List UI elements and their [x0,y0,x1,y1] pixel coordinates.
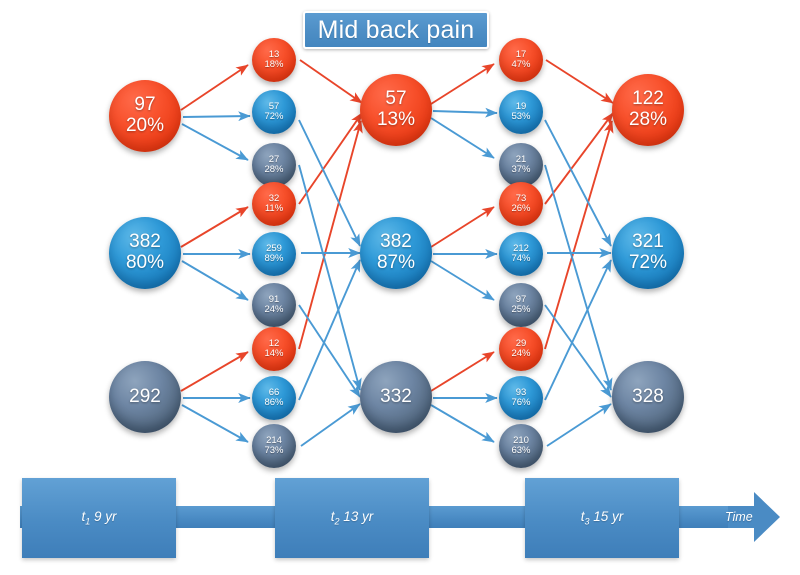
node-c4-b-blue[interactable]: 212 74% [499,232,543,276]
timeline-axis-label: Time [725,510,753,524]
diagram-canvas: Mid back pain 97 20% 382 80% 292 13 18% … [0,0,800,575]
node-c3-blue[interactable]: 382 87% [360,217,432,289]
node-pct: 14% [264,349,283,359]
node-c4-s-red[interactable]: 29 24% [499,327,543,371]
node-c5-red[interactable]: 122 28% [612,74,684,146]
node-c4-s-slate[interactable]: 210 63% [499,424,543,468]
node-c1-blue[interactable]: 382 80% [109,217,181,289]
node-c4-s-blue[interactable]: 93 76% [499,376,543,420]
node-count: 328 [632,387,664,408]
node-pct: 80% [126,253,164,274]
node-pct: 37% [511,165,530,175]
node-c2-r-blue[interactable]: 57 72% [252,90,296,134]
node-pct: 47% [511,60,530,70]
node-pct: 76% [511,398,530,408]
node-count: 122 [632,89,664,110]
node-c5-slate[interactable]: 328 [612,361,684,433]
node-c1-slate[interactable]: 292 [109,361,181,433]
node-count: 97 [134,95,155,116]
node-count: 382 [380,232,412,253]
node-pct: 20% [126,116,164,137]
node-pct: 72% [629,253,667,274]
timeline-step-3[interactable]: t3 15 yr [525,478,679,558]
diagram-title-text: Mid back pain [318,18,475,43]
node-count: 292 [129,387,161,408]
node-pct: 53% [511,112,530,122]
node-pct: 25% [511,305,530,315]
node-pct: 24% [264,305,283,315]
node-c2-r-slate[interactable]: 27 28% [252,143,296,187]
node-c2-b-blue[interactable]: 259 89% [252,232,296,276]
node-c4-b-red[interactable]: 73 26% [499,182,543,226]
node-pct: 28% [629,110,667,131]
node-c4-r-red[interactable]: 17 47% [499,38,543,82]
node-c3-red[interactable]: 57 13% [360,74,432,146]
node-pct: 89% [264,254,283,264]
node-c4-r-slate[interactable]: 21 37% [499,143,543,187]
node-pct: 28% [264,165,283,175]
node-pct: 13% [377,110,415,131]
node-count: 57 [385,89,406,110]
node-c4-r-blue[interactable]: 19 53% [499,90,543,134]
node-c2-s-blue[interactable]: 66 86% [252,376,296,420]
node-count: 382 [129,232,161,253]
node-pct: 87% [377,253,415,274]
node-pct: 11% [265,204,283,214]
timeline-step-1[interactable]: t1 9 yr [22,478,176,558]
timeline-step-1-label: t1 9 yr [81,509,116,527]
node-c3-slate[interactable]: 332 [360,361,432,433]
node-count: 332 [380,387,412,408]
node-pct: 26% [511,204,530,214]
node-c2-s-red[interactable]: 12 14% [252,327,296,371]
diagram-title: Mid back pain [303,11,489,49]
node-pct: 18% [264,60,283,70]
timeline-step-3-label: t3 15 yr [581,509,624,527]
node-pct: 74% [511,254,530,264]
node-c5-blue[interactable]: 321 72% [612,217,684,289]
node-layer: Mid back pain 97 20% 382 80% 292 13 18% … [0,0,800,575]
node-c4-b-slate[interactable]: 97 25% [499,283,543,327]
node-pct: 63% [511,446,530,456]
node-count: 321 [632,232,664,253]
node-pct: 86% [264,398,283,408]
timeline-step-2-label: t2 13 yr [331,509,374,527]
node-c1-red[interactable]: 97 20% [109,80,181,152]
node-c2-r-red[interactable]: 13 18% [252,38,296,82]
timeline-step-2[interactable]: t2 13 yr [275,478,429,558]
node-pct: 72% [264,112,283,122]
node-pct: 24% [511,349,530,359]
node-pct: 73% [264,446,283,456]
node-c2-s-slate[interactable]: 214 73% [252,424,296,468]
node-c2-b-red[interactable]: 32 11% [252,182,296,226]
node-c2-b-slate[interactable]: 91 24% [252,283,296,327]
